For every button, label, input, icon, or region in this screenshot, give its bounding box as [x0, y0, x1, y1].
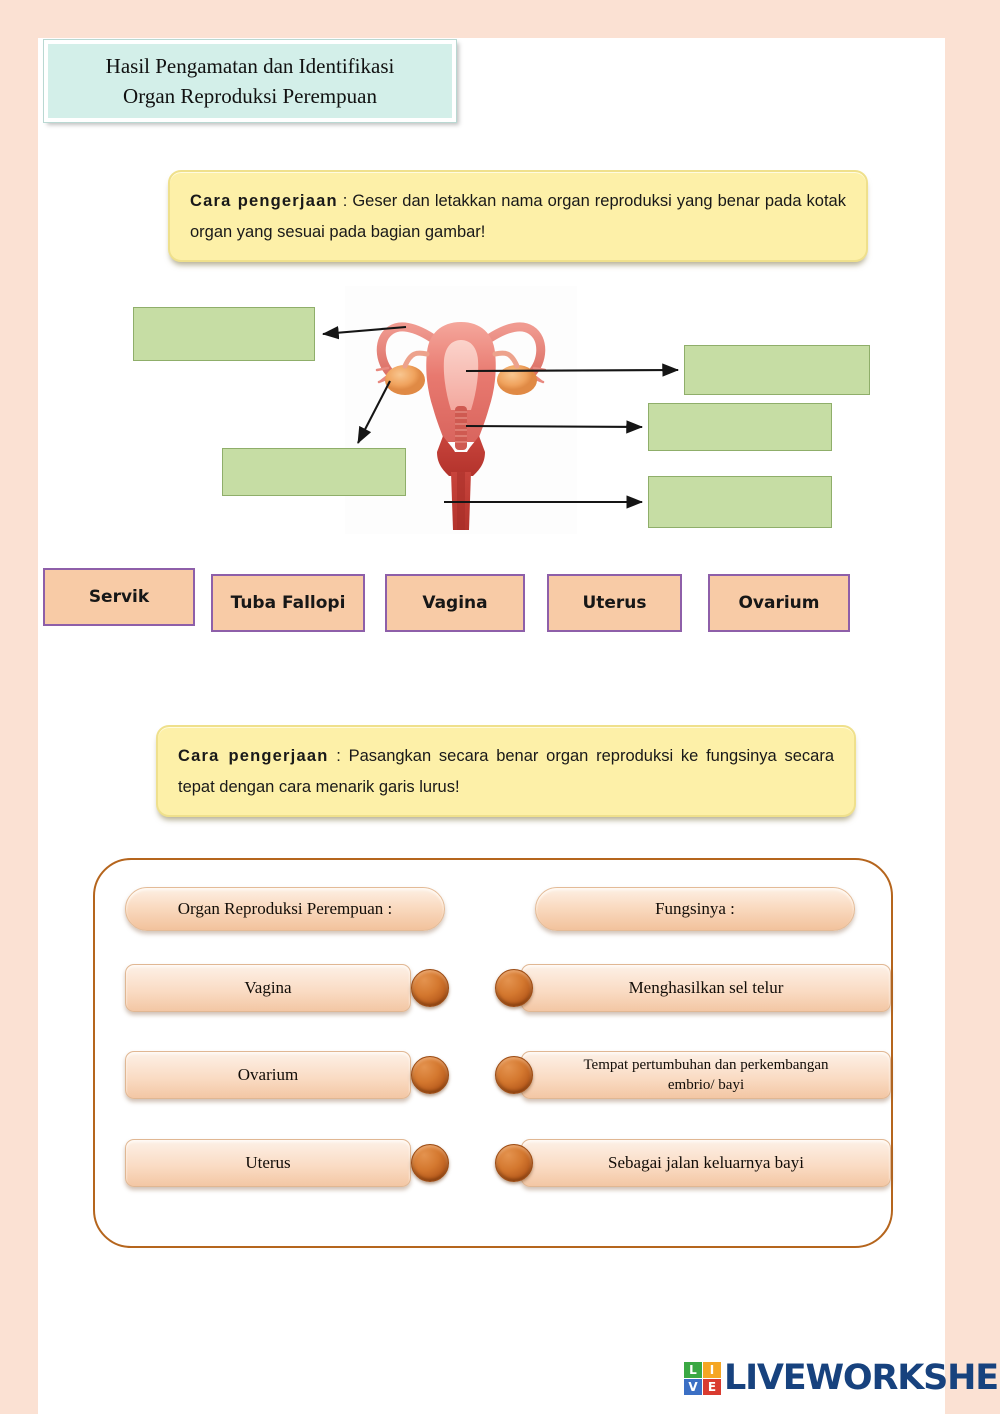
logo-tile-i: I [703, 1362, 721, 1378]
matching-right-header: Fungsinya : [535, 887, 855, 931]
matching-left-label-ovarium: Ovarium [125, 1051, 411, 1099]
matching-right-row-1: Menghasilkan sel telur [495, 964, 895, 1012]
logo-tile-v: V [684, 1379, 702, 1395]
matching-left-row-1: Vagina [125, 964, 449, 1012]
dropbox-1[interactable] [133, 307, 315, 361]
connector-knob-right-1[interactable] [495, 969, 533, 1007]
matching-right-label-1: Menghasilkan sel telur [521, 964, 891, 1012]
matching-left-row-3: Uterus [125, 1139, 449, 1187]
word-chip-servik[interactable]: Servik [43, 568, 195, 626]
dropbox-4[interactable] [222, 448, 406, 496]
word-chip-uterus[interactable]: Uterus [547, 574, 682, 632]
instruction-1-separator: : [338, 192, 353, 210]
diagram-area [38, 286, 945, 548]
instruction-banner-2: Cara pengerjaan : Pasangkan secara benar… [156, 725, 856, 817]
matching-left-label-vagina: Vagina [125, 964, 411, 1012]
page-title: Hasil Pengamatan dan Identifikasi Organ … [44, 40, 456, 122]
instruction-2-label: Cara pengerjaan [178, 747, 328, 765]
word-chip-tuba-fallopi[interactable]: Tuba Fallopi [211, 574, 365, 632]
dropbox-5[interactable] [648, 476, 832, 528]
dropbox-3[interactable] [648, 403, 832, 451]
page-title-line-1: Hasil Pengamatan dan Identifikasi [106, 51, 395, 81]
dropbox-2[interactable] [684, 345, 870, 395]
worksheet-sheet: Hasil Pengamatan dan Identifikasi Organ … [38, 38, 945, 1414]
liveworksheets-logo-tiles: L I V E [684, 1362, 721, 1395]
instruction-1-label: Cara pengerjaan [190, 192, 338, 210]
matching-left-header: Organ Reproduksi Perempuan : [125, 887, 445, 931]
connector-knob-left-2[interactable] [411, 1056, 449, 1094]
matching-right-row-2: Tempat pertumbuhan dan perkembangan embr… [495, 1051, 895, 1099]
connector-knob-left-3[interactable] [411, 1144, 449, 1182]
draggable-word-bank: Servik Tuba Fallopi Vagina Uterus Ovariu… [38, 568, 945, 638]
connector-knob-right-2[interactable] [495, 1056, 533, 1094]
liveworksheets-logo-word: LIVEWORKSHEETS [724, 1358, 1000, 1398]
connector-knob-left-1[interactable] [411, 969, 449, 1007]
matching-right-row-3: Sebagai jalan keluarnya bayi [495, 1139, 895, 1187]
instruction-2-separator: : [328, 747, 348, 765]
instruction-banner-1: Cara pengerjaan : Geser dan letakkan nam… [168, 170, 868, 262]
matching-left-label-uterus: Uterus [125, 1139, 411, 1187]
matching-left-row-2: Ovarium [125, 1051, 449, 1099]
word-chip-ovarium[interactable]: Ovarium [708, 574, 850, 632]
logo-tile-e: E [703, 1379, 721, 1395]
matching-exercise-panel: Organ Reproduksi Perempuan : Fungsinya :… [93, 858, 893, 1248]
matching-right-label-3: Sebagai jalan keluarnya bayi [521, 1139, 891, 1187]
word-chip-vagina[interactable]: Vagina [385, 574, 525, 632]
connector-knob-right-3[interactable] [495, 1144, 533, 1182]
liveworksheets-logo[interactable]: L I V E LIVEWORKSHEETS [684, 1358, 1000, 1398]
matching-right-label-2: Tempat pertumbuhan dan perkembangan embr… [521, 1051, 891, 1099]
page-title-line-2: Organ Reproduksi Perempuan [123, 81, 377, 111]
logo-tile-l: L [684, 1362, 702, 1378]
